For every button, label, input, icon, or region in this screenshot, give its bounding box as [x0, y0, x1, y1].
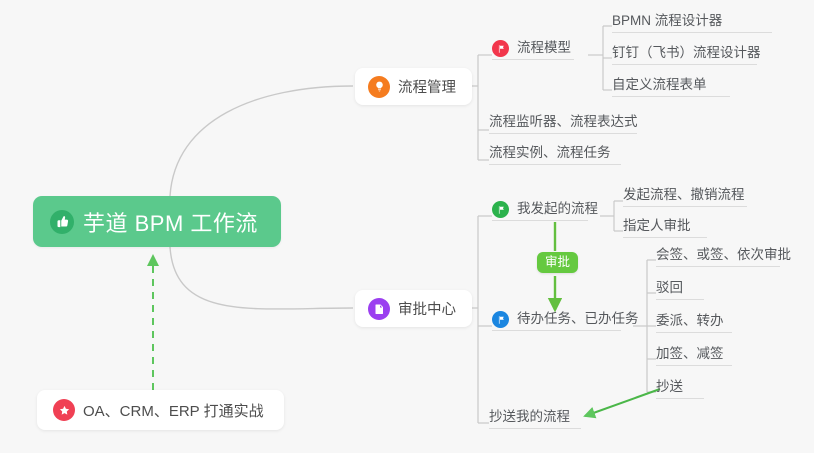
leaf-label-todo-done-tasks: 待办任务、已办任务 — [517, 312, 639, 329]
leaf-label-bpmn-designer: BPMN 流程设计器 — [612, 14, 722, 31]
approval-flow-chip: 审批 — [537, 252, 578, 273]
leaf-add-remove-sign[interactable]: 加签、减签 — [656, 340, 732, 366]
leaf-todo-done-tasks[interactable]: 待办任务、已办任务 — [492, 305, 621, 331]
leaf-assignee-approval[interactable]: 指定人审批 — [623, 212, 707, 238]
root-node-label: 芋道 BPM 工作流 — [83, 206, 258, 238]
flag-blue-icon — [492, 311, 509, 328]
leaf-label-dingtalk-feishu-designer: 钉钉（飞书）流程设计器 — [612, 46, 761, 63]
leaf-label-carbon-copy: 抄送 — [656, 380, 683, 397]
star-icon — [53, 399, 75, 421]
branch-node-approval-center[interactable]: 审批中心 — [355, 290, 472, 327]
leaf-label-custom-process-form: 自定义流程表单 — [612, 78, 707, 95]
leaf-label-my-started-processes: 我发起的流程 — [517, 202, 598, 219]
leaf-label-process-listener-expression: 流程监听器、流程表达式 — [489, 115, 638, 132]
arrow-cc-to-ccprocess — [585, 389, 660, 416]
leaf-carbon-copy[interactable]: 抄送 — [656, 373, 704, 399]
leaf-delegate-transfer[interactable]: 委派、转办 — [656, 307, 732, 333]
leaf-label-process-instance-task: 流程实例、流程任务 — [489, 146, 611, 163]
leaf-process-model[interactable]: 流程模型 — [492, 34, 574, 60]
link-root-to-process-management — [170, 86, 353, 196]
leaf-dingtalk-feishu-designer[interactable]: 钉钉（飞书）流程设计器 — [612, 39, 757, 65]
leaf-label-cc-to-me-processes: 抄送我的流程 — [489, 410, 570, 427]
leaf-my-started-processes[interactable]: 我发起的流程 — [492, 195, 588, 221]
leaf-label-start-cancel-process: 发起流程、撤销流程 — [623, 188, 745, 205]
leaf-start-cancel-process[interactable]: 发起流程、撤销流程 — [623, 181, 747, 207]
leaf-label-assignee-approval: 指定人审批 — [623, 219, 691, 236]
mindmap-canvas: 芋道 BPM 工作流 流程管理 审批中心 OA、CRM、ERP 打通实战 审批 — [0, 0, 814, 453]
link-root-to-approval-center — [170, 247, 353, 309]
leaf-bpmn-designer[interactable]: BPMN 流程设计器 — [612, 7, 772, 33]
lightbulb-icon — [368, 76, 390, 98]
thumbs-up-icon — [50, 210, 74, 234]
leaf-label-add-remove-sign: 加签、减签 — [656, 347, 724, 364]
annotation-label-integration: OA、CRM、ERP 打通实战 — [83, 400, 264, 421]
branch-node-process-management[interactable]: 流程管理 — [355, 68, 472, 105]
document-purple-icon — [368, 298, 390, 320]
root-node[interactable]: 芋道 BPM 工作流 — [33, 196, 281, 247]
flag-red-icon — [492, 40, 509, 57]
leaf-label-multi-sign-or-sign-sequential: 会签、或签、依次审批 — [656, 248, 791, 265]
leaf-process-listener-expression[interactable]: 流程监听器、流程表达式 — [489, 108, 637, 134]
branch-label-process-management: 流程管理 — [398, 76, 456, 97]
leaf-multi-sign-or-sign-sequential[interactable]: 会签、或签、依次审批 — [656, 241, 780, 267]
leaf-process-instance-task[interactable]: 流程实例、流程任务 — [489, 139, 621, 165]
branch-label-approval-center: 审批中心 — [398, 298, 456, 319]
leaf-label-delegate-transfer: 委派、转办 — [656, 314, 724, 331]
leaf-cc-to-me-processes[interactable]: 抄送我的流程 — [489, 403, 581, 429]
flag-green-icon — [492, 201, 509, 218]
leaf-reject[interactable]: 驳回 — [656, 274, 704, 300]
leaf-custom-process-form[interactable]: 自定义流程表单 — [612, 71, 730, 97]
leaf-label-process-model: 流程模型 — [517, 41, 571, 58]
annotation-node-integration[interactable]: OA、CRM、ERP 打通实战 — [37, 390, 284, 430]
leaf-label-reject: 驳回 — [656, 281, 683, 298]
